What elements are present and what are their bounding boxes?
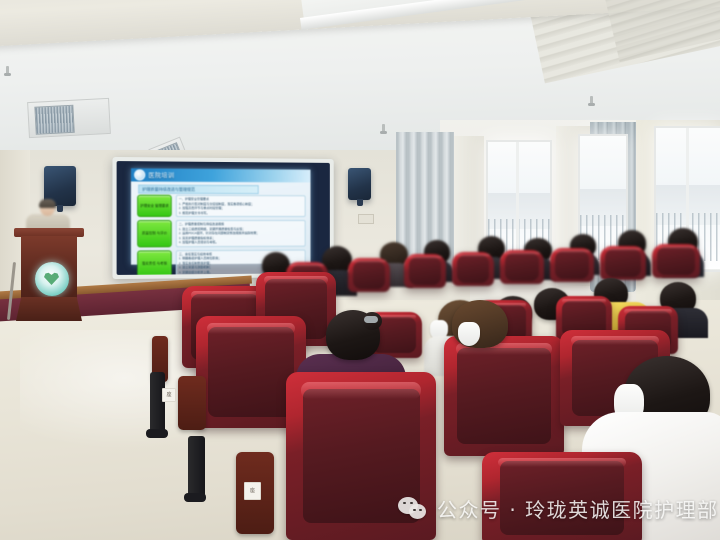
seat-highlight [504,252,539,255]
slide-green-label: 护理安全 管理要求 [137,195,172,217]
presentation-slide: 医院培训 护理质量持续改进与管理规范 护理安全 管理要求 一、护理安全管理要点 … [131,168,311,264]
watermark: 公众号 · 玲珑英诚医院护理部 [398,494,719,523]
seat-pad [505,253,539,280]
podium-base [16,297,82,321]
seat-highlight [264,276,328,283]
wechat-dot [403,502,406,505]
seat-back-row[interactable] [452,252,494,286]
slide-body-text: 一、护理安全管理要点 1. 严格执行查对制度与交接班制度，落实各项核心制度； 2… [176,195,306,217]
wall-outlet-plate [358,214,374,224]
seat-back-row[interactable] [550,248,594,282]
seat-highlight [605,248,642,251]
slide-green-label: 质量控制 与评价 [137,220,172,247]
seat-pedestal-2 [188,436,205,498]
seat-highlight [498,458,626,467]
seat-pad [208,327,294,417]
wall-speaker-right [348,168,371,200]
seat-highlight [562,299,607,304]
seat-pad [605,249,641,276]
seat-number-tag: 座 [162,388,176,402]
seat-pad [555,251,589,278]
seat-back-row[interactable] [652,244,700,278]
projection-screen[interactable]: 医院培训 护理质量持续改进与管理规范 护理安全 管理要求 一、护理安全管理要点 … [112,157,333,279]
seat-highlight [207,323,295,334]
watermark-text: 公众号 · 玲珑英诚医院护理部 [437,494,719,523]
slide-body-text: 二、护理质量控制与持续改进措施 1. 建立三级质控网络，定期开展质量检查与反馈；… [176,220,306,247]
wechat-icon [398,497,428,521]
seat-highlight [352,260,386,263]
seat-highlight [624,309,672,314]
slide-header-bar: 医院培训 [131,168,311,182]
face-mask [458,322,480,346]
hospital-heart-emblem-icon [35,262,69,296]
presenter-hair [39,199,56,208]
seat-highlight [290,264,324,267]
seat-highlight [657,246,695,249]
slide-row: 护理安全 管理要求 一、护理安全管理要点 1. 严格执行查对制度与交接班制度，落… [137,195,306,217]
seat-highlight [301,382,421,399]
seat-pad [457,255,490,282]
slide-line: 4. 加强护理人员培训与考核。 [179,240,303,245]
sprinkler-head-1 [6,66,9,75]
sprinkler-head-5 [590,96,593,105]
slide-content-rows: 护理安全 管理要求 一、护理安全管理要点 1. 严格执行查对制度与交接班制度，落… [137,195,306,262]
vent-grille [35,105,75,135]
seat-highlight [408,256,442,259]
slide-subtitle-band: 护理质量持续改进与管理规范 [138,185,259,195]
wechat-dot [419,509,422,512]
institution-logo-icon [134,169,145,180]
seat-pad [457,348,551,444]
seat-highlight [456,254,490,257]
seat-back-row[interactable] [348,258,390,292]
slide-header-title: 医院培训 [148,170,174,179]
seat-foreground-right[interactable] [444,336,564,456]
seat-highlight [554,250,589,253]
podium-body [21,236,77,298]
wechat-dot [410,502,413,505]
slide-row: 质量控制 与评价 二、护理质量控制与持续改进措施 1. 建立三级质控网络，定期开… [137,220,306,247]
seat-pedestal-1 [150,372,165,434]
seat-back-row[interactable] [500,250,544,284]
speaker-podium [18,228,80,320]
sprinkler-head-2 [382,124,385,133]
seat-pad [409,257,442,284]
wechat-bubble-small [409,504,426,519]
slide-subtitle-text: 护理质量持续改进与管理规范 [139,186,258,194]
seat-back-row[interactable] [600,246,646,280]
seat-pad [353,261,386,288]
auditorium-photo: 医院培训 护理质量持续改进与管理规范 护理安全 管理要求 一、护理安全管理要点 … [0,0,720,540]
seat-pad [657,247,694,274]
seat-back-row[interactable] [404,254,446,288]
slide-green-label: 落实责任 与考核 [137,250,172,275]
seat-armrest-front [178,376,206,430]
ceiling-vent-1 [27,98,111,138]
hair-clip [364,316,378,323]
wechat-dot [413,509,416,512]
seat-number-tag: 座 [244,482,261,500]
seat-highlight [191,291,260,299]
screen-panel: 医院培训 护理质量持续改进与管理规范 护理安全 管理要求 一、护理安全管理要点 … [117,161,330,275]
seat-highlight [571,336,659,346]
slide-line: 3. 规范护理文书书写。 [179,210,303,215]
